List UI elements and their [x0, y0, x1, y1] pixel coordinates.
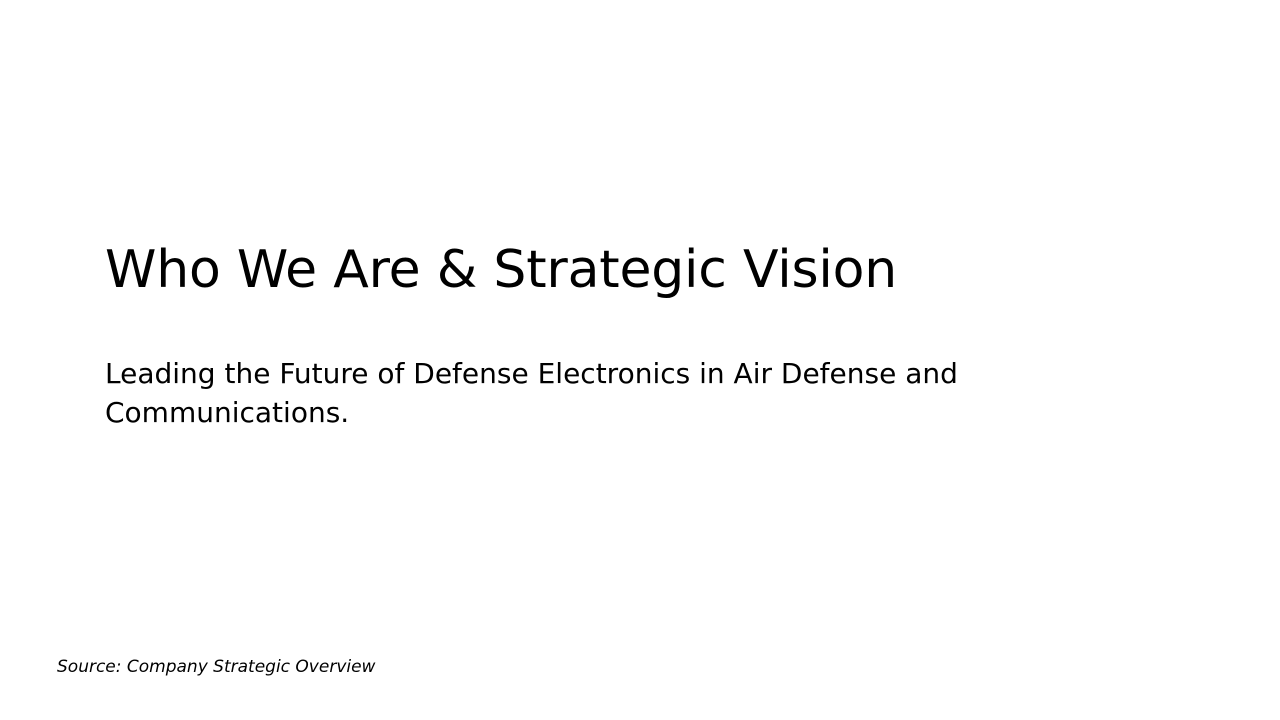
page-title: Who We Are & Strategic Vision [105, 240, 1035, 300]
slide-subtitle: Leading the Future of Defense Electronic… [105, 300, 1020, 432]
source-caption: Source: Company Strategic Overview [57, 657, 375, 678]
presentation-slide: Who We Are & Strategic Vision Leading th… [0, 0, 1280, 720]
slide-text-block: Who We Are & Strategic Vision Leading th… [105, 240, 1035, 432]
